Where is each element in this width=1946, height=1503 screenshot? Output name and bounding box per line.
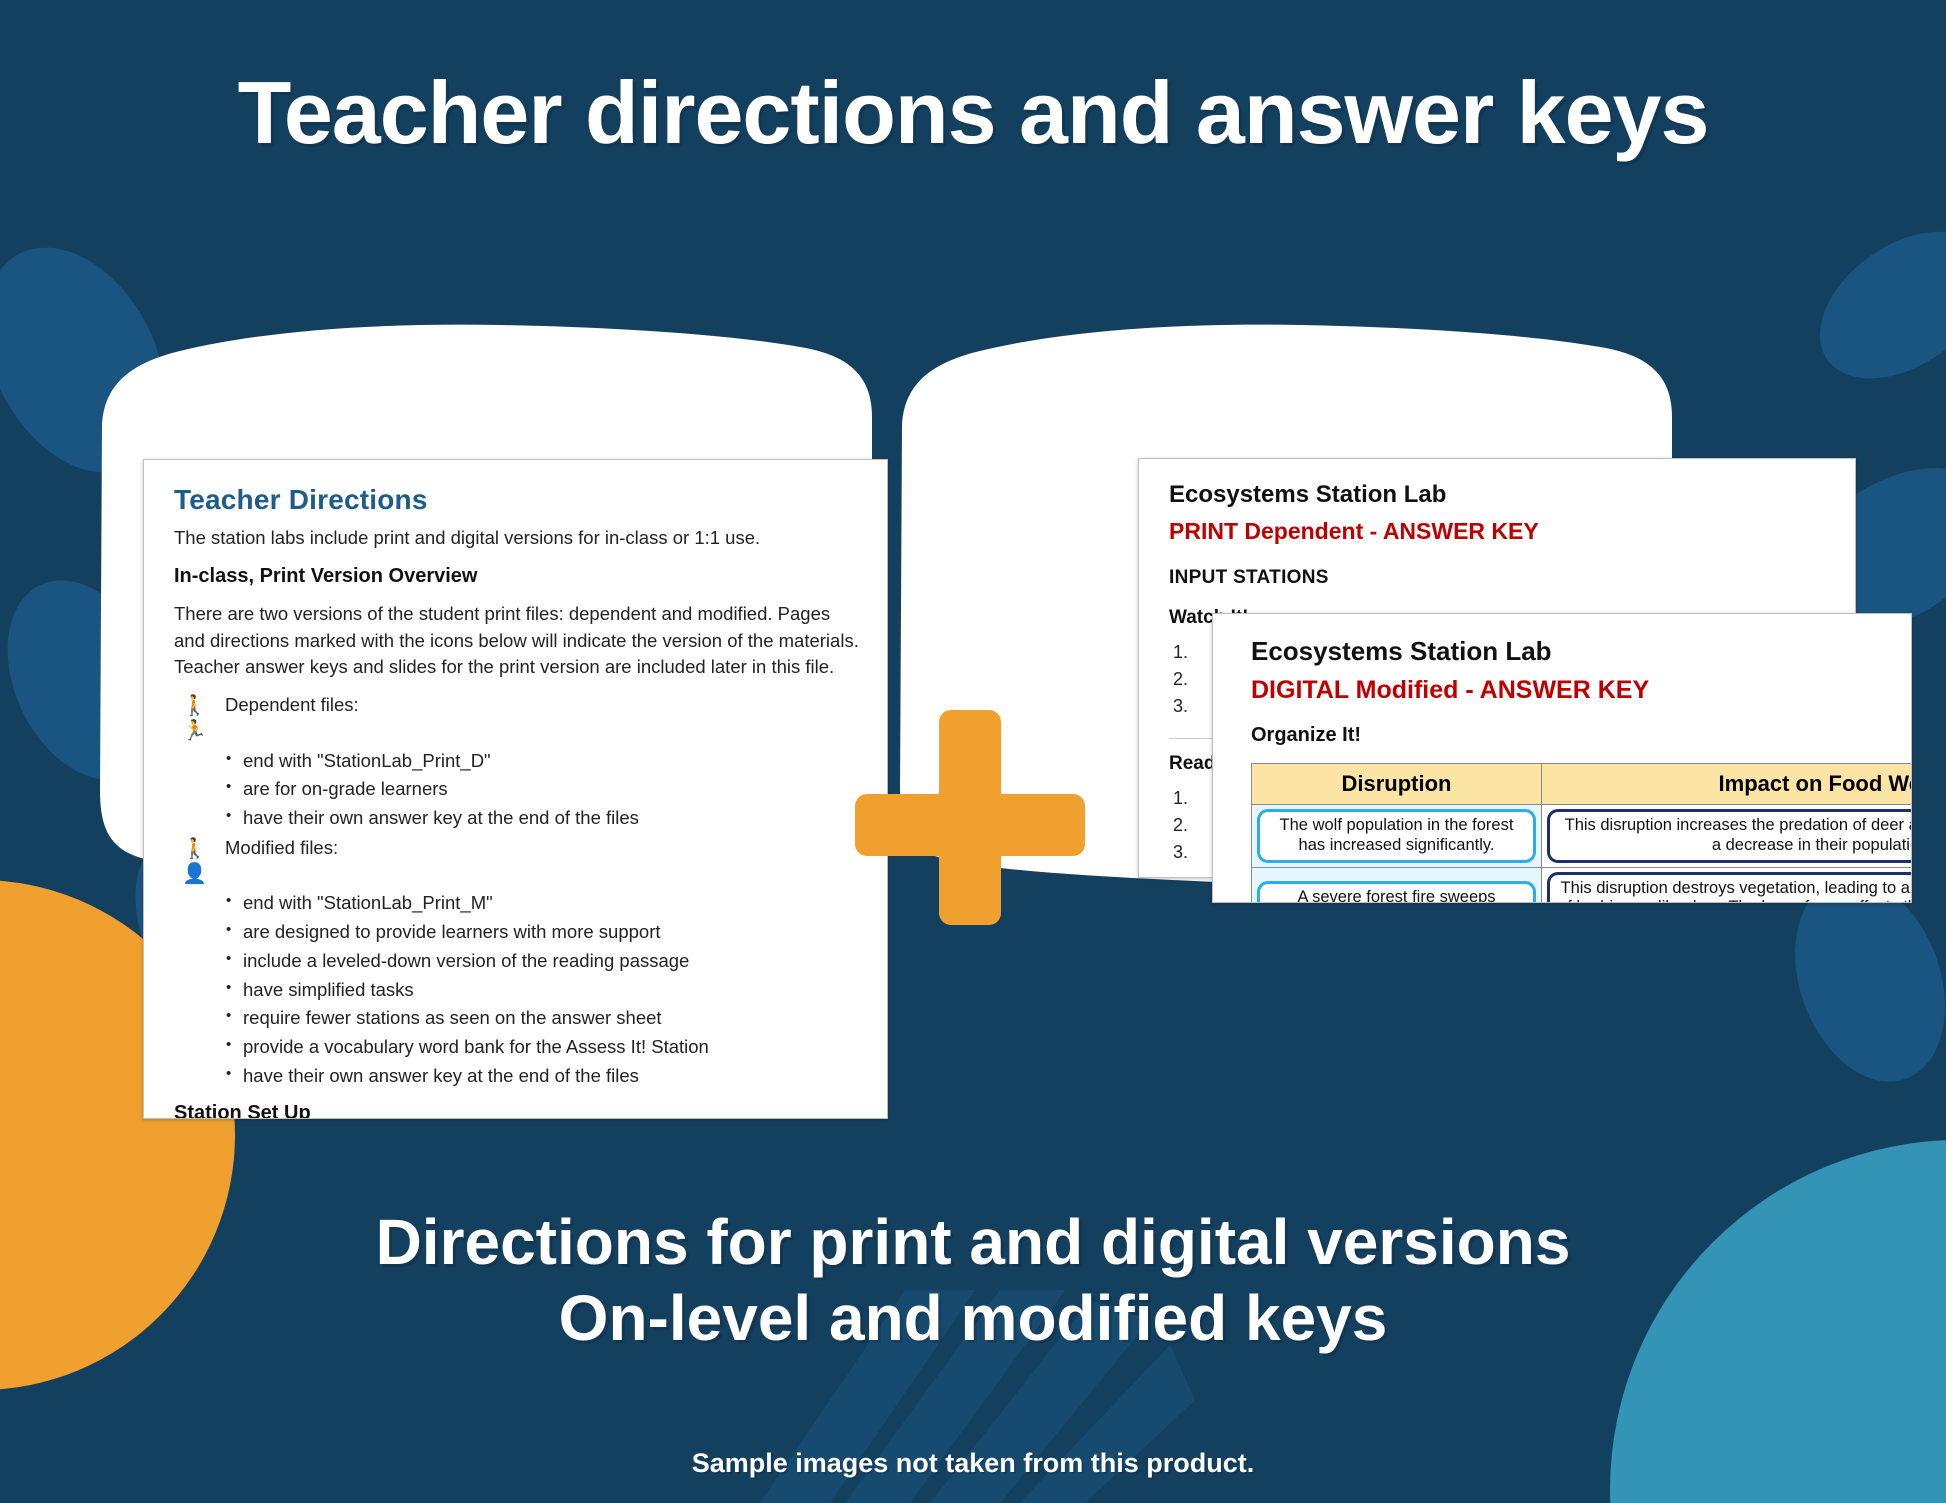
list-item: have simplified tasks <box>226 975 859 1004</box>
intro-text: The station labs include print and digit… <box>174 525 859 551</box>
column-header-impact: Impact on Food Web <box>1542 764 1913 805</box>
table-header-row: Disruption Impact on Food Web <box>1252 764 1913 805</box>
list-item: are designed to provide learners with mo… <box>226 917 859 946</box>
section-heading-station-setup: Station Set Up <box>174 1102 859 1119</box>
column-header-disruption: Disruption <box>1252 764 1542 805</box>
list-item: include a leveled-down version of the re… <box>226 946 859 975</box>
page-title-top: Teacher directions and answer keys <box>0 62 1946 164</box>
section-body-print-overview: There are two versions of the student pr… <box>174 601 859 680</box>
dependent-files-group: 🚶🏃 Dependent files: <box>182 694 859 744</box>
impact-cell: This disruption destroys vegetation, lea… <box>1547 872 1912 903</box>
page-title: Ecosystems Station Lab <box>1169 481 1855 509</box>
disruption-cell: The wolf population in the forest has in… <box>1257 809 1536 863</box>
answer-key-subtitle: PRINT Dependent - ANSWER KEY <box>1169 518 1855 545</box>
digital-answer-key-document[interactable]: Ecosystems Station Lab DIGITAL Modified … <box>1212 613 1912 903</box>
subtitle-line-1: Directions for print and digital version… <box>0 1205 1946 1281</box>
table-row: A severe forest fire sweeps through the … <box>1252 867 1913 903</box>
page-title: Teacher Directions <box>174 484 859 516</box>
modified-files-group: 🚶👤 Modified files: <box>182 837 859 887</box>
answer-key-subtitle: DIGITAL Modified - ANSWER KEY <box>1251 676 1911 705</box>
list-item: provide a vocabulary word bank for the A… <box>226 1033 859 1062</box>
page-title: Ecosystems Station Lab <box>1251 636 1911 667</box>
section-heading-input-stations: INPUT STATIONS <box>1169 567 1855 589</box>
impact-cell: This disruption increases the predation … <box>1547 809 1912 863</box>
subtitle-line-2: On-level and modified keys <box>0 1281 1946 1357</box>
modified-files-list: end with "StationLab_Print_M" are design… <box>226 889 859 1091</box>
list-item: end with "StationLab_Print_D" <box>226 746 859 775</box>
modified-files-label: Modified files: <box>225 837 338 859</box>
task-heading-organize-it: Organize It! <box>1251 724 1911 747</box>
list-item: have their own answer key at the end of … <box>226 804 859 833</box>
page-subtitle-bottom: Directions for print and digital version… <box>0 1205 1946 1356</box>
organize-it-table: Disruption Impact on Food Web The wolf p… <box>1251 763 1912 903</box>
dependent-files-list: end with "StationLab_Print_D" are for on… <box>226 746 859 832</box>
list-item: require fewer stations as seen on the an… <box>226 1004 859 1033</box>
modified-learners-icon: 🚶👤 <box>182 837 212 887</box>
teacher-directions-document[interactable]: Teacher Directions The station labs incl… <box>143 459 888 1119</box>
dependent-learners-icon: 🚶🏃 <box>182 694 212 744</box>
list-item: have their own answer key at the end of … <box>226 1062 859 1091</box>
plus-sign-icon <box>855 710 1085 925</box>
table-row: The wolf population in the forest has in… <box>1252 805 1913 868</box>
list-item: end with "StationLab_Print_M" <box>226 889 859 918</box>
disruption-cell: A severe forest fire sweeps through the … <box>1257 881 1536 903</box>
list-item: are for on-grade learners <box>226 775 859 804</box>
footnote-text: Sample images not taken from this produc… <box>0 1448 1946 1479</box>
section-heading-print-overview: In-class, Print Version Overview <box>174 565 859 588</box>
dependent-files-label: Dependent files: <box>225 694 359 716</box>
